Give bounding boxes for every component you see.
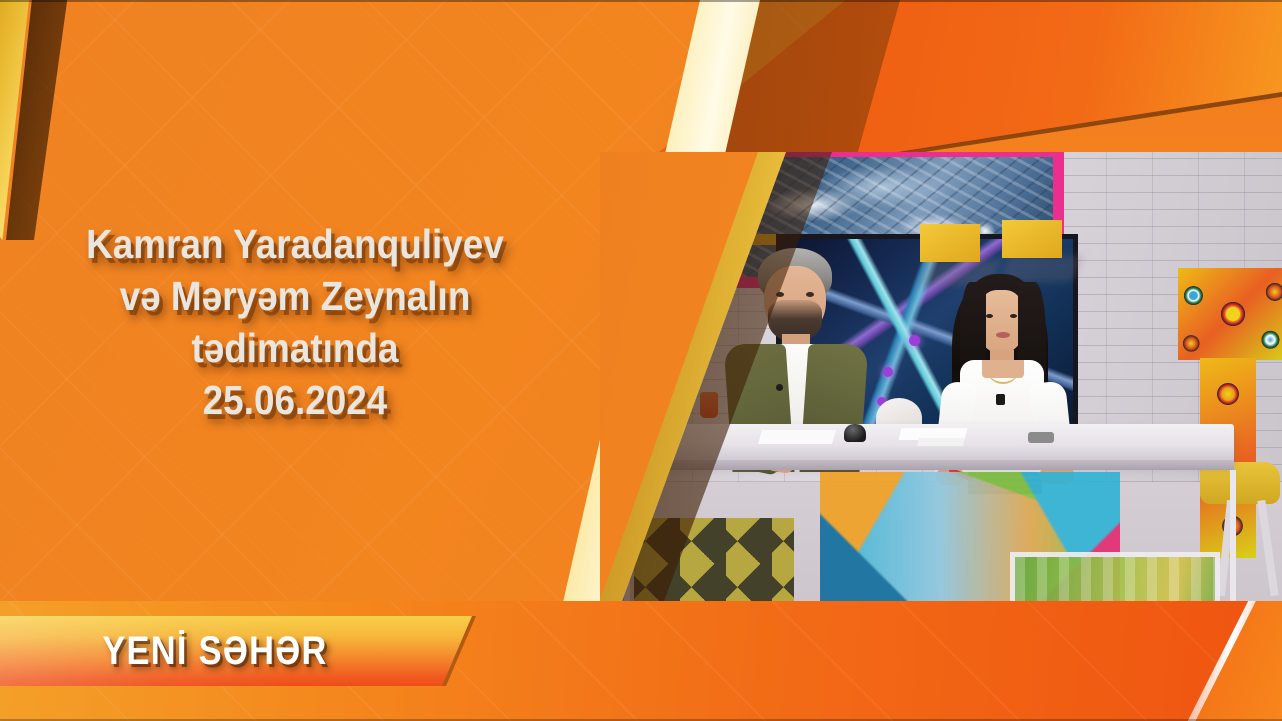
female-lapel-microphone	[996, 394, 1005, 405]
desk-paper	[917, 438, 964, 446]
tv-dot	[883, 367, 893, 377]
female-lips	[996, 332, 1010, 338]
headline-text: Kamran Yaradanquliyev və Məryəm Zeynalın…	[39, 218, 552, 426]
top-edge-line	[0, 0, 1282, 2]
desk-bell	[844, 424, 866, 442]
studio-video-panel	[600, 152, 1282, 601]
desk-paper	[758, 430, 836, 444]
headline-line-2: və Məryəm Zeynalın	[39, 270, 552, 322]
headline-date: 25.06.2024	[39, 374, 552, 426]
yellow-wall-cube	[920, 224, 980, 262]
yellow-wall-cube	[1002, 220, 1062, 258]
right-chair-leg	[1257, 500, 1278, 596]
green-geometric-panel	[1010, 552, 1220, 601]
male-eye	[806, 292, 814, 297]
male-lapel-microphone	[776, 384, 783, 391]
program-name-label: YENİ SƏHƏR	[30, 616, 400, 686]
headline-line-1: Kamran Yaradanquliyev	[39, 218, 552, 270]
female-eye	[1010, 314, 1017, 318]
female-eye	[986, 314, 993, 318]
program-banner: YENİ SƏHƏR	[0, 616, 500, 686]
patterned-lamp-shade	[1178, 268, 1282, 360]
broadcast-graphic: Kamran Yaradanquliyev və Məryəm Zeynalın…	[0, 0, 1282, 721]
headline-line-3: tədimatında	[39, 322, 552, 374]
tv-dot	[909, 335, 920, 346]
desk-remote	[1028, 432, 1054, 443]
